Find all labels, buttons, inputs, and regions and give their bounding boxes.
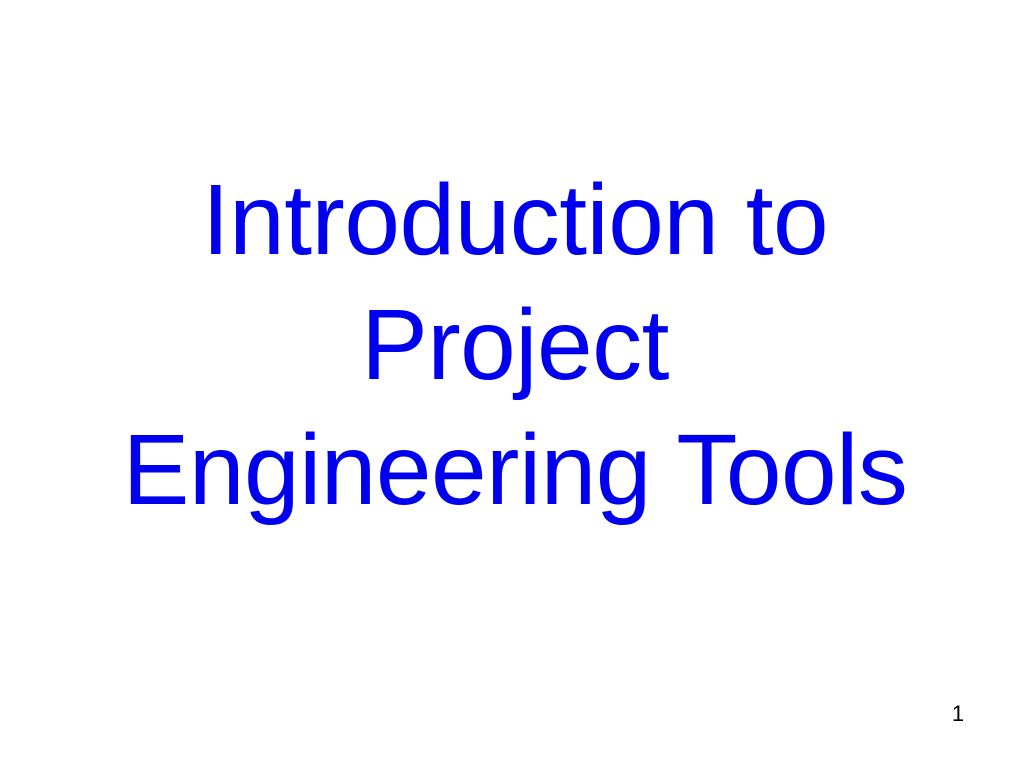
title-line-2: Project — [6, 283, 1024, 408]
slide-canvas: Introduction to Project Engineering Tool… — [0, 0, 1024, 768]
slide-title: Introduction to Project Engineering Tool… — [0, 158, 1024, 533]
page-number: 1 — [946, 702, 970, 726]
title-line-1: Introduction to — [6, 158, 1024, 283]
title-line-3: Engineering Tools — [6, 408, 1024, 533]
